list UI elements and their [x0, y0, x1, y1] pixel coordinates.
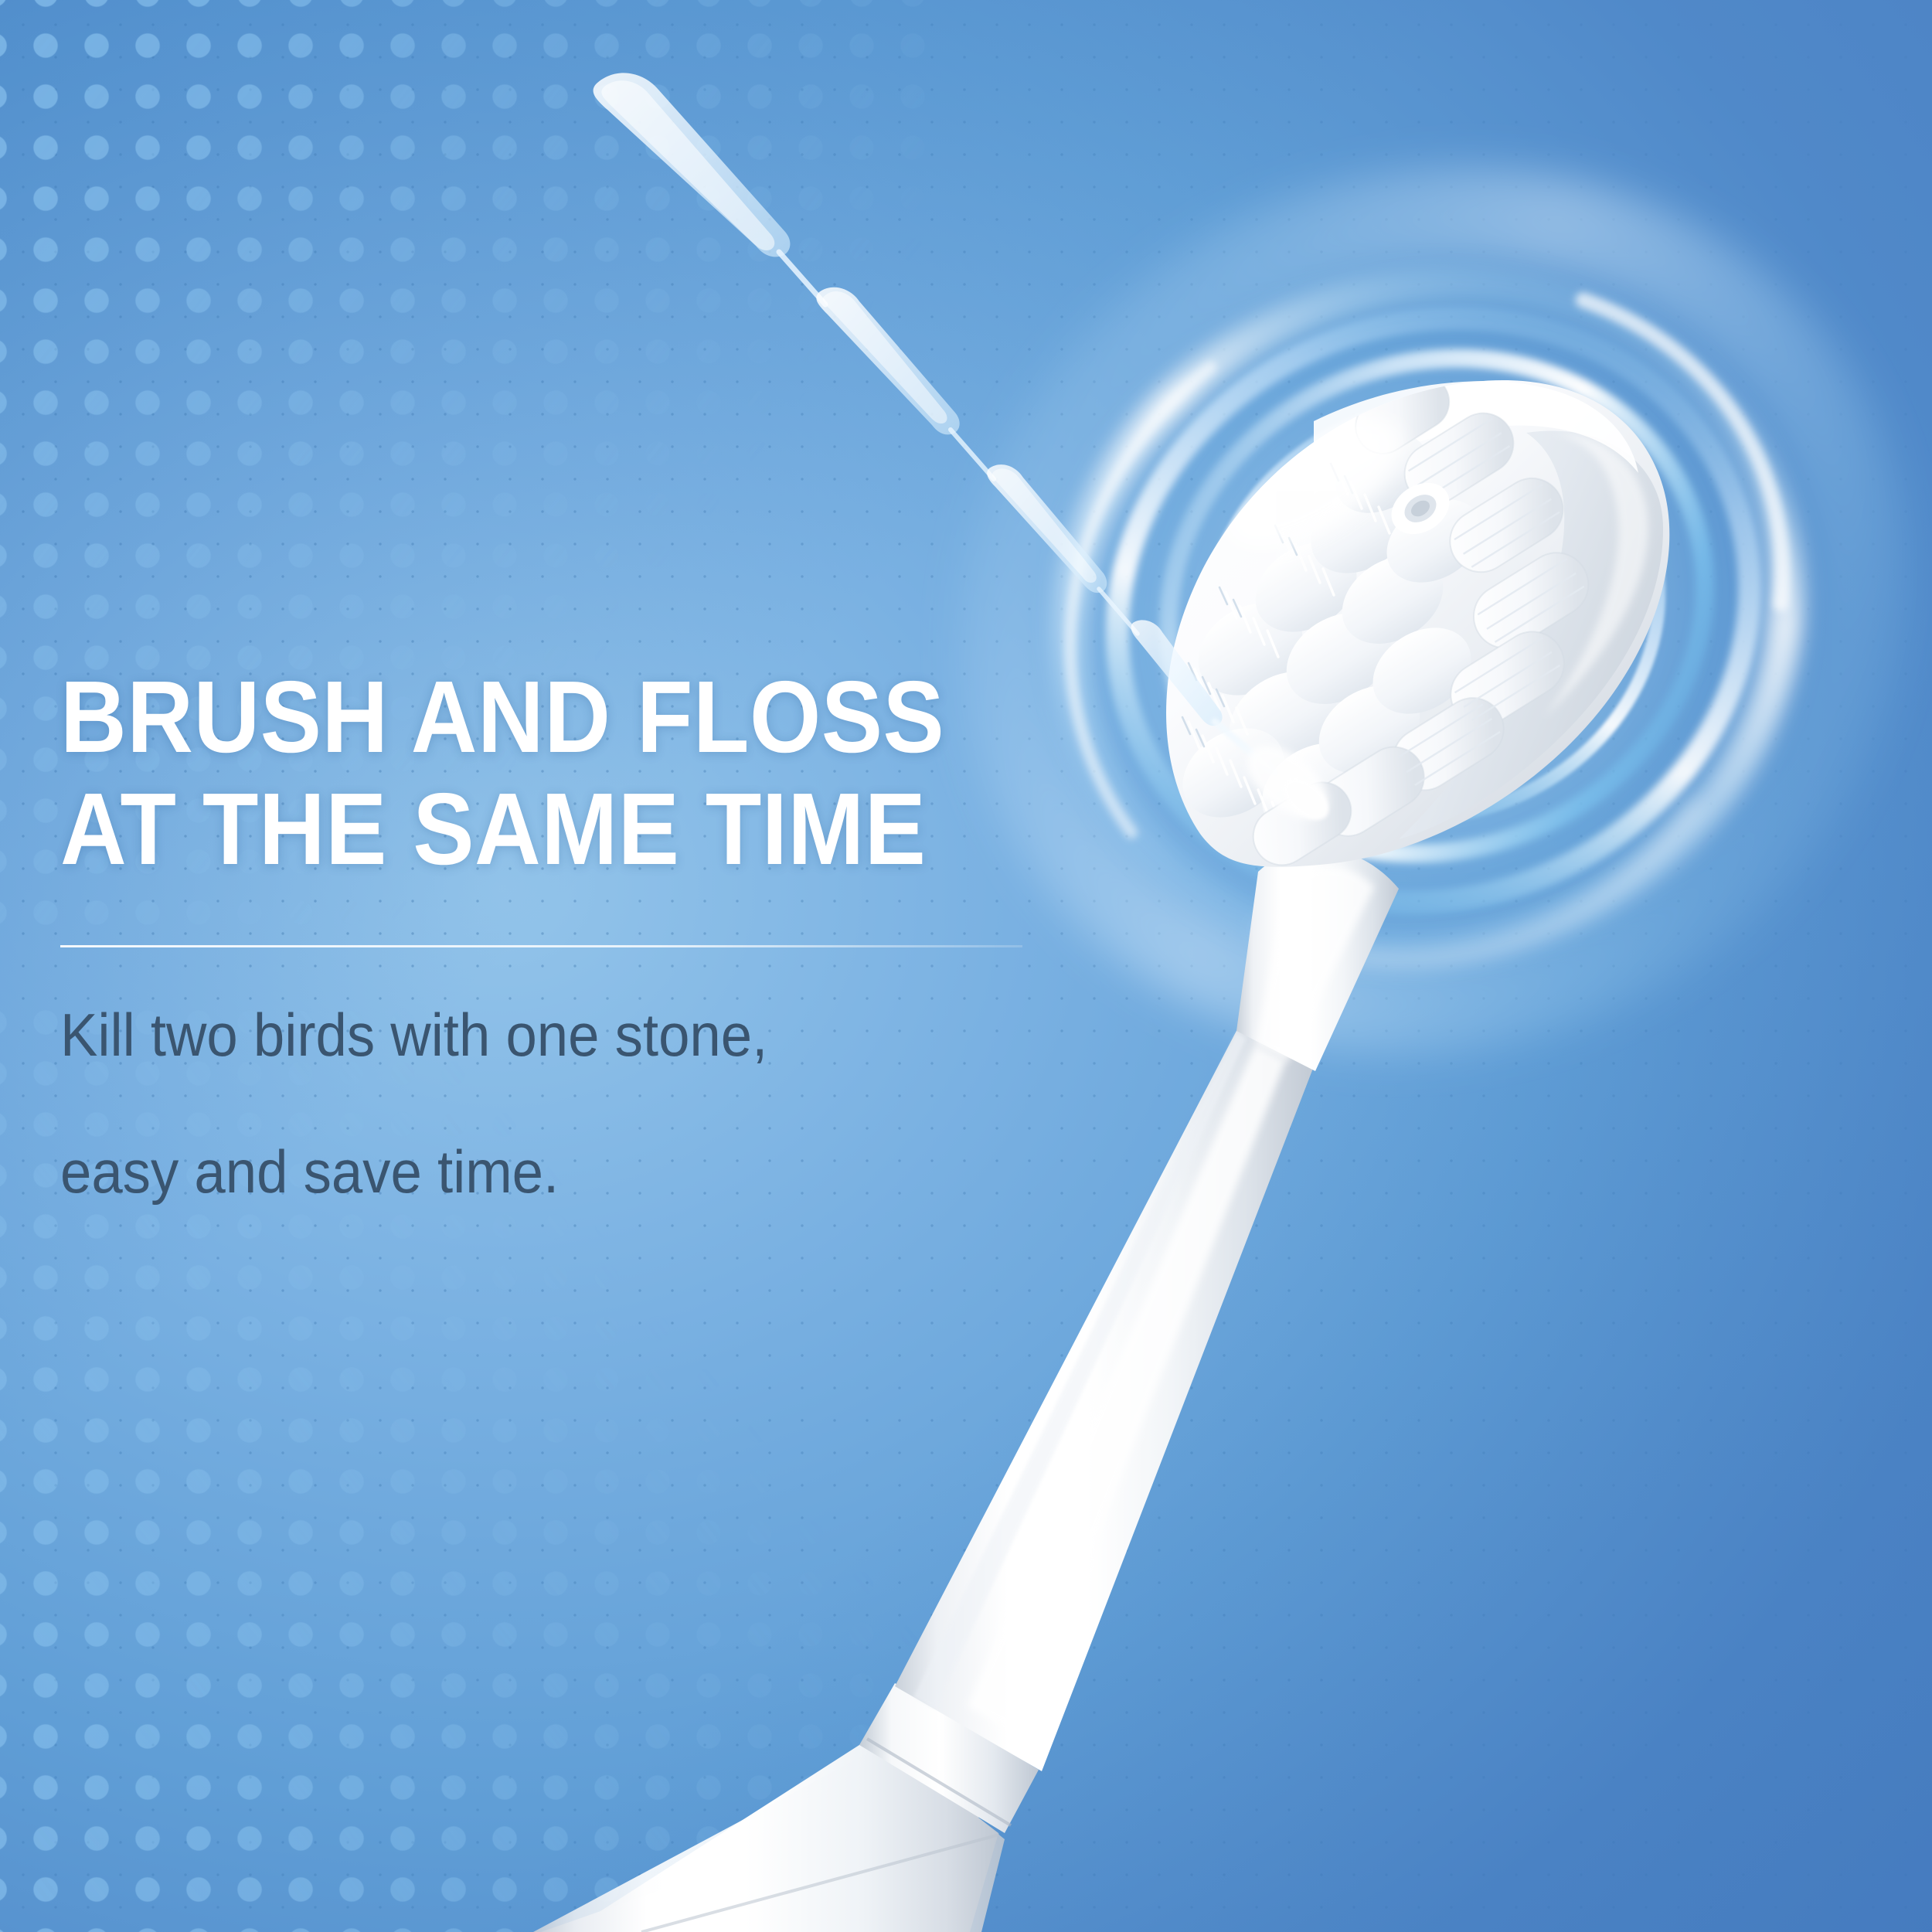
- headline-line-2: AT THE SAME TIME: [60, 773, 1048, 885]
- subtitle-line-2: easy and save time.: [60, 1134, 1081, 1209]
- advertisement-canvas: BRUSH AND FLOSS AT THE SAME TIME Kill tw…: [0, 0, 1932, 1932]
- subtitle-line-1: Kill two birds with one stone,: [60, 997, 1081, 1073]
- divider-rule: [60, 945, 1022, 947]
- copy-block: BRUSH AND FLOSS AT THE SAME TIME Kill tw…: [60, 661, 1158, 1270]
- headline-line-1: BRUSH AND FLOSS: [60, 661, 1048, 773]
